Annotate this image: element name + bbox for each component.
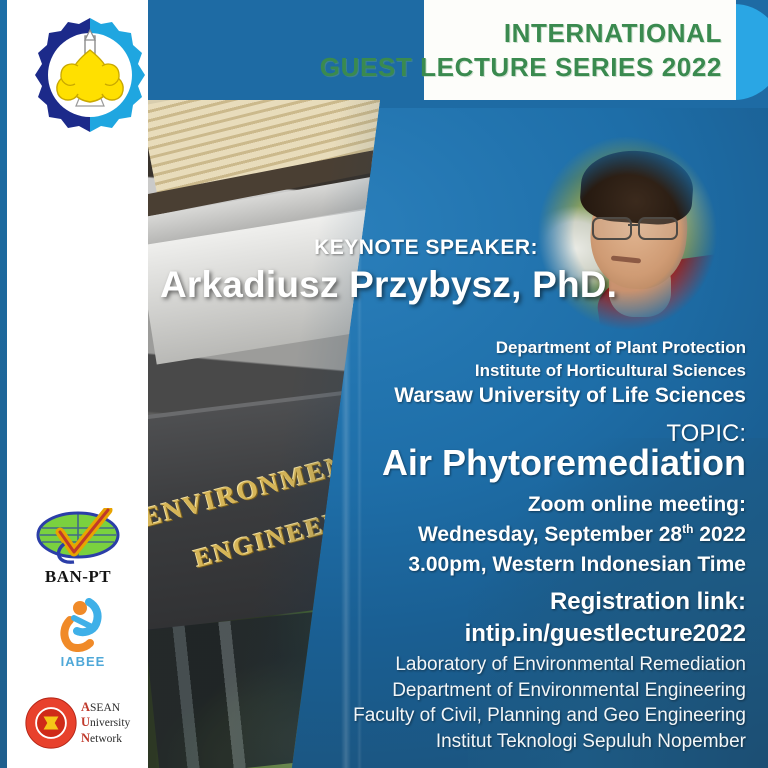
poster-canvas: ENVIRONMENTAL ENGINEERING INTERNATIONAL … (0, 0, 768, 768)
affiliation-line-2: Institute of Horticultural Sciences (394, 359, 746, 382)
keynote-speaker-label: KEYNOTE SPEAKER: (314, 236, 538, 260)
iabee-logo: IABEE (44, 598, 122, 670)
aun-line-2: University (81, 715, 130, 730)
ban-pt-logo: BAN-PT (30, 508, 126, 586)
header-title-line-2: GUEST LECTURE SERIES 2022 (320, 50, 722, 84)
topic-title: Air Phytoremediation (382, 442, 746, 484)
organizer-line-1: Laboratory of Environmental Remediation (353, 652, 746, 678)
aun-emblem-icon (24, 696, 78, 750)
registration-block: Registration link: intip.in/guestlecture… (465, 586, 746, 650)
aun-rest-etwork: etwork (90, 733, 122, 745)
organizer-line-3: Faculty of Civil, Planning and Geo Engin… (353, 703, 746, 729)
organizer-block: Laboratory of Environmental Remediation … (353, 652, 746, 755)
header-title-line-1: INTERNATIONAL (504, 16, 722, 50)
ban-pt-logo-svg (30, 508, 126, 566)
meeting-platform-label: Zoom online meeting: (408, 490, 746, 520)
aun-accent-a: A (81, 700, 90, 714)
meeting-date: Wednesday, September 28th 2022 (408, 520, 746, 550)
left-edge-strip (0, 0, 7, 768)
its-logo (28, 14, 152, 146)
iabee-label: IABEE (44, 654, 122, 669)
header-band: INTERNATIONAL GUEST LECTURE SERIES 2022 (424, 0, 736, 100)
affiliation-line-1: Department of Plant Protection (394, 336, 746, 359)
registration-label: Registration link: (465, 586, 746, 618)
iabee-logo-svg (44, 598, 122, 652)
glasses-right-lens (638, 217, 678, 240)
affiliation-line-3: Warsaw University of Life Sciences (394, 382, 746, 411)
asean-university-network-logo: ASEAN University Network (24, 692, 146, 754)
aun-label: ASEAN University Network (81, 700, 130, 746)
meeting-date-year: 2022 (693, 523, 746, 546)
aun-line-1: ASEAN (81, 700, 130, 715)
registration-link[interactable]: intip.in/guestlecture2022 (465, 618, 746, 650)
aun-accent-n: N (81, 731, 90, 745)
glasses-bridge (628, 224, 638, 226)
ban-pt-label: BAN-PT (30, 567, 126, 587)
keynote-speaker-name: Arkadiusz Przybysz, PhD. (160, 264, 600, 306)
aun-line-3: Network (81, 731, 130, 746)
aun-rest-niversity: niversity (90, 717, 130, 729)
aun-accent-u: U (81, 715, 90, 729)
aun-rest-sean: SEAN (90, 702, 120, 714)
eyeglasses-icon (592, 217, 684, 237)
meeting-date-ordinal: th (682, 522, 693, 536)
organizer-line-4: Institut Teknologi Sepuluh Nopember (353, 729, 746, 755)
organizer-line-2: Department of Environmental Engineering (353, 678, 746, 704)
meeting-time: 3.00pm, Western Indonesian Time (408, 550, 746, 580)
speaker-affiliation: Department of Plant Protection Institute… (394, 336, 746, 411)
its-logo-svg (28, 14, 152, 146)
meeting-date-prefix: Wednesday, September 28 (418, 523, 682, 546)
schedule-block: Zoom online meeting: Wednesday, Septembe… (408, 490, 746, 579)
glasses-left-lens (592, 217, 632, 240)
